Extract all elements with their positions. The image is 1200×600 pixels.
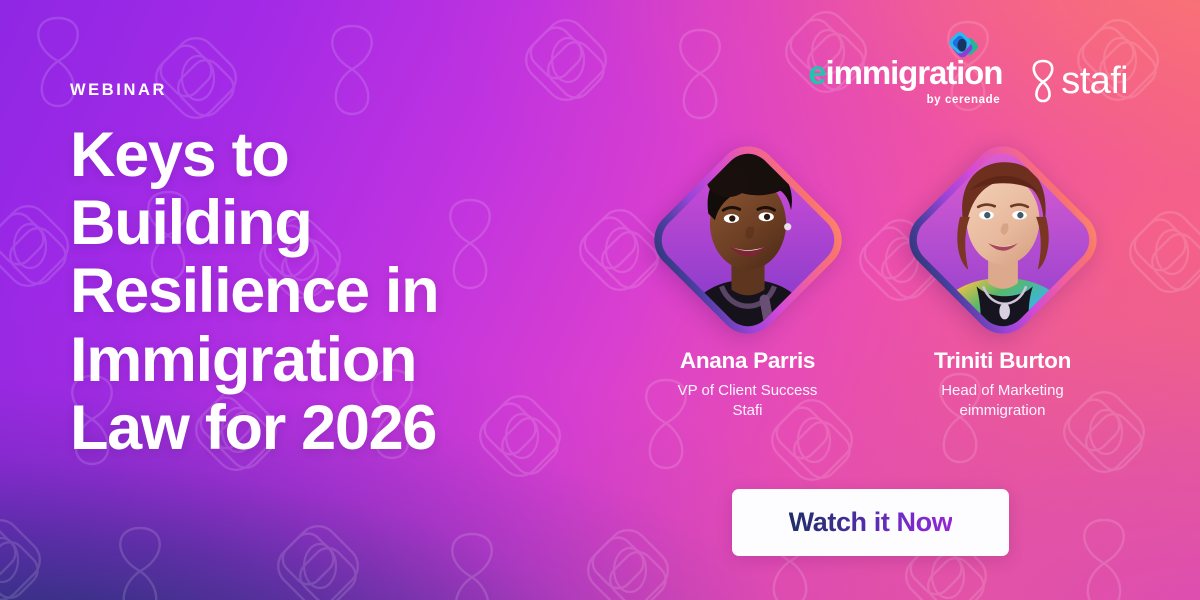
speaker-photo-anana-parris xyxy=(651,144,843,336)
speaker-name: Anana Parris xyxy=(680,348,815,374)
speaker-photo-frame xyxy=(650,142,846,338)
speaker-name: Triniti Burton xyxy=(934,348,1071,374)
speaker-role: Head of Marketing eimmigration xyxy=(941,381,1064,422)
stafi-logo[interactable]: stafi xyxy=(1028,38,1128,104)
stafi-wordmark: stafi xyxy=(1061,62,1128,100)
speaker-list: Anana Parris VP of Client Success Stafi xyxy=(640,142,1110,422)
watch-it-now-button[interactable]: Watch it Now xyxy=(732,489,1009,556)
speaker-card: Triniti Burton Head of Marketing eimmigr… xyxy=(895,142,1110,422)
logo-row: eimmigration by cerenade stafi xyxy=(808,38,1128,106)
speaker-card: Anana Parris VP of Client Success Stafi xyxy=(640,142,855,422)
eyebrow-label: WEBINAR xyxy=(70,82,630,99)
eimmigration-tagline: by cerenade xyxy=(927,94,1001,106)
webinar-promo-banner: WEBINAR Keys to Building Resilience in I… xyxy=(0,0,1200,600)
cta-label: Watch it Now xyxy=(789,507,953,538)
speaker-role: VP of Client Success Stafi xyxy=(678,381,818,422)
page-title: Keys to Building Resilience in Immigrati… xyxy=(70,121,630,463)
eimmigration-logo[interactable]: eimmigration by cerenade xyxy=(808,38,1002,106)
diamond-logo-icon xyxy=(944,28,980,64)
speaker-photo-triniti-burton xyxy=(906,144,1098,336)
hourglass-icon xyxy=(1028,58,1058,104)
eimmigration-e: e xyxy=(808,56,825,89)
headline-block: WEBINAR Keys to Building Resilience in I… xyxy=(70,82,630,462)
speaker-photo-frame xyxy=(905,142,1101,338)
